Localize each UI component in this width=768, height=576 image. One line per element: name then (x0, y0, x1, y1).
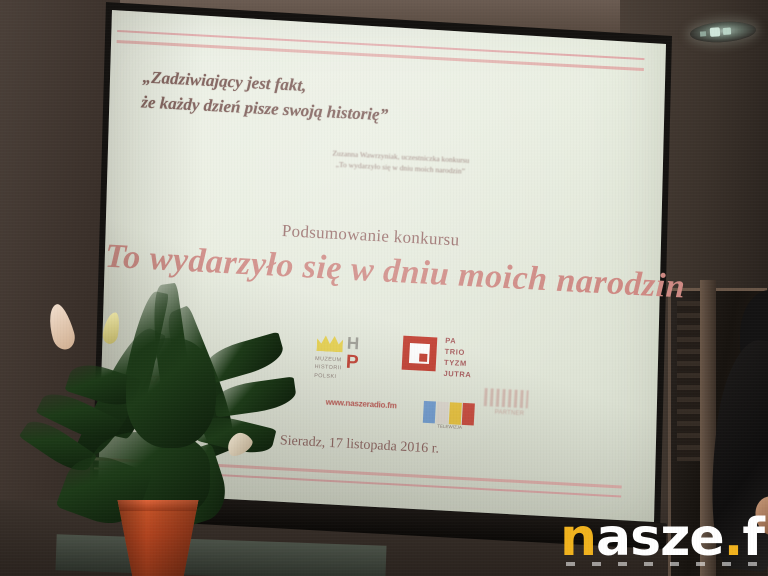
tv-bar-2 (436, 402, 449, 425)
letter-p: P (345, 353, 364, 374)
naszeradio-fm-logo: www.naszeradio.fm (325, 398, 402, 422)
watermark-n: n (560, 508, 596, 568)
partner-mark-icon (484, 388, 529, 408)
slide-quote: „Zadziwiający jest fakt, że każdy dzień … (141, 65, 543, 135)
plant-flower-1 (44, 302, 78, 352)
plant-flower-2 (101, 311, 121, 345)
patriotyzm-line-4: JUTRA (443, 368, 472, 380)
watermark-dot: . (724, 508, 743, 568)
watermark-underline (566, 562, 762, 566)
crown-icon (316, 335, 343, 352)
naszeradio-fm-text: www.naszeradio.fm (326, 398, 402, 411)
tv-bar-4 (462, 403, 475, 426)
flower-pot (112, 500, 204, 576)
partner-logo: PARTNER (479, 378, 541, 427)
muzeum-caption-3: POLSKI (314, 371, 341, 381)
sieradz-tv-logo: TELEWIZJA (423, 397, 479, 430)
quote-line-2: że każdy dzień pisze swoją historię” (141, 90, 542, 136)
nasze-fm-watermark: nasze.fm (560, 512, 768, 564)
pot-shade (112, 500, 204, 576)
patriotyzm-mark-icon (402, 336, 438, 372)
plant-foliage (8, 282, 298, 518)
patriotyzm-text: PA TRIO TYZM JUTRA (443, 336, 473, 381)
letter-h: H (346, 335, 365, 354)
muzeum-caption: MUZEUM HISTORII POLSKI (314, 355, 342, 381)
tv-bar-3 (449, 402, 462, 425)
watermark-fm: fm (742, 508, 768, 568)
slide-attribution: Zuzanna Wawrzyniak, uczestniczka konkurs… (270, 144, 531, 180)
muzeum-historii-polski-logo: H P MUZEUM HISTORII POLSKI (313, 329, 374, 384)
partner-caption: PARTNER (479, 409, 539, 420)
watermark-asze: asze (596, 508, 724, 568)
tv-bar-1 (423, 401, 436, 424)
photo-scene: „Zadziwiający jest fakt, że każdy dzień … (0, 0, 768, 576)
sponsor-logo-band: H P MUZEUM HISTORII POLSKI PA TRIO TYZM … (310, 325, 555, 442)
potted-plant-icon (8, 282, 298, 576)
